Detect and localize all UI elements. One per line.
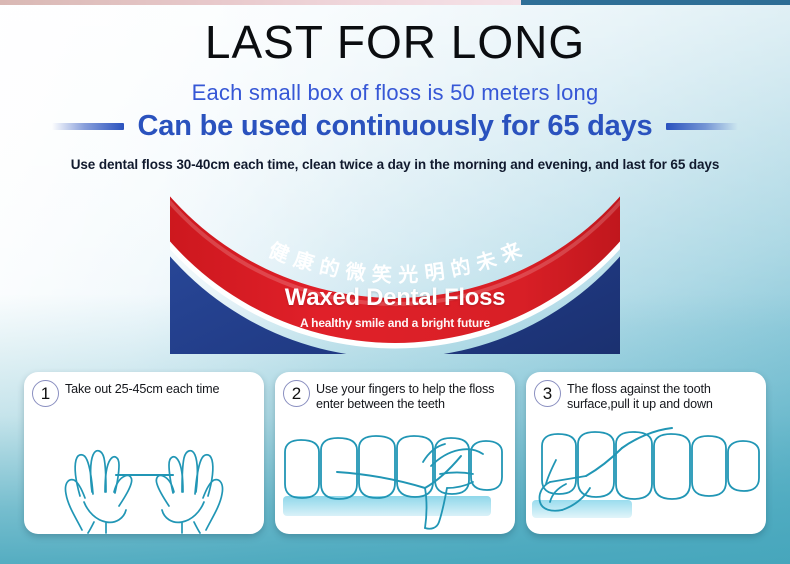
step-2-text: Use your fingers to help the floss enter… [316,380,507,413]
step-card-1[interactable]: 1 Take out 25-45cm each time [24,372,264,534]
top-strip-pink-segment [0,0,363,5]
step-3-header: 3 The floss against the tooth surface,pu… [526,372,766,413]
banner-chinese-slogan-text: 健 康 的 微 笑 光 明 的 未 来 [265,237,525,287]
step-2-number: 2 [283,380,310,407]
product-banner: 健 康 的 微 笑 光 明 的 未 来 Waxed Dental Floss A… [170,196,620,354]
emphasis-row: Can be used continuously for 65 days [0,110,790,143]
gum-bar [283,496,491,516]
step-2-header: 2 Use your fingers to help the floss ent… [275,372,515,413]
promo-page: LAST FOR LONG Each small box of floss is… [0,0,790,564]
dash-left-decoration [52,123,124,130]
banner-chinese-slogan: 健 康 的 微 笑 光 明 的 未 来 [265,237,525,287]
headline-block: LAST FOR LONG Each small box of floss is… [0,18,790,172]
step-3-illustration [526,422,766,534]
top-strip-blue-segment [521,0,790,5]
top-edge-strip [0,0,790,5]
usage-note: Use dental floss 30-40cm each time, clea… [0,157,790,172]
step-3-number: 3 [534,380,561,407]
step-1-number: 1 [32,380,59,407]
step-card-2[interactable]: 2 Use your fingers to help the floss ent… [275,372,515,534]
step-1-header: 1 Take out 25-45cm each time [24,372,264,407]
step-card-3[interactable]: 3 The floss against the tooth surface,pu… [526,372,766,534]
steps-row: 1 Take out 25-45cm each time [24,372,766,534]
step-1-illustration [24,422,264,534]
step-1-text: Take out 25-45cm each time [65,380,219,397]
step-2-illustration [275,422,515,534]
page-title: LAST FOR LONG [0,18,790,66]
dash-right-decoration [666,123,738,130]
page-subtitle: Each small box of floss is 50 meters lon… [0,80,790,106]
step-3-text: The floss against the tooth surface,pull… [567,380,758,413]
top-strip-rose-segment [363,0,521,5]
emphasis-headline: Can be used continuously for 65 days [138,110,653,143]
